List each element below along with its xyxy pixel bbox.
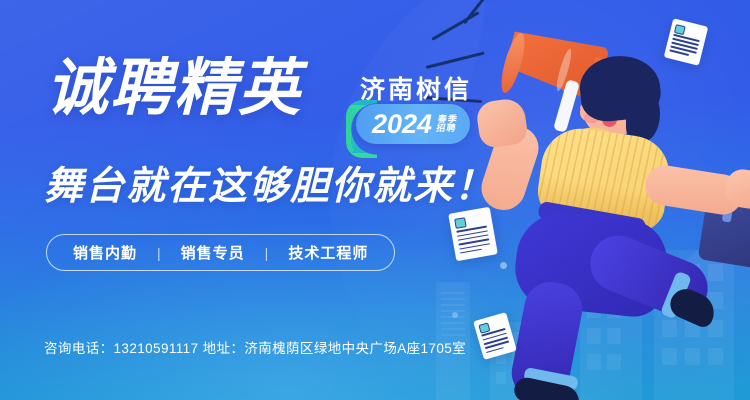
badge-sub-char-4: 聘 [446,124,457,133]
badge-subtext: 春 季 招 聘 [436,115,458,134]
job-position-2[interactable]: 销售专员 [181,242,245,263]
tagline: 舞台就在这够胆你就来！ [44,155,495,211]
badge-sub-char-3: 招 [436,124,447,133]
badge-year: 2024 [372,111,432,138]
text-content: 诚聘精英 济南树信 2024 春 季 招 聘 舞台就在这够胆你就来！ 销售内勤 … [0,0,560,400]
job-positions-pill: 销售内勤 | 销售专员 | 技术工程师 [46,234,395,271]
job-position-1[interactable]: 销售内勤 [73,242,137,263]
job-separator: | [245,245,289,261]
job-position-3[interactable]: 技术工程师 [288,242,368,263]
page-title: 诚聘精英 [46,58,302,120]
job-separator: | [137,245,181,261]
resume-paper-icon [664,18,709,66]
recruitment-banner: 诚聘精英 济南树信 2024 春 季 招 聘 舞台就在这够胆你就来！ 销售内勤 … [0,0,750,400]
contact-info: 咨询电话：13210591117 地址：济南槐荫区绿地中央广场A座1705室 [44,337,466,357]
